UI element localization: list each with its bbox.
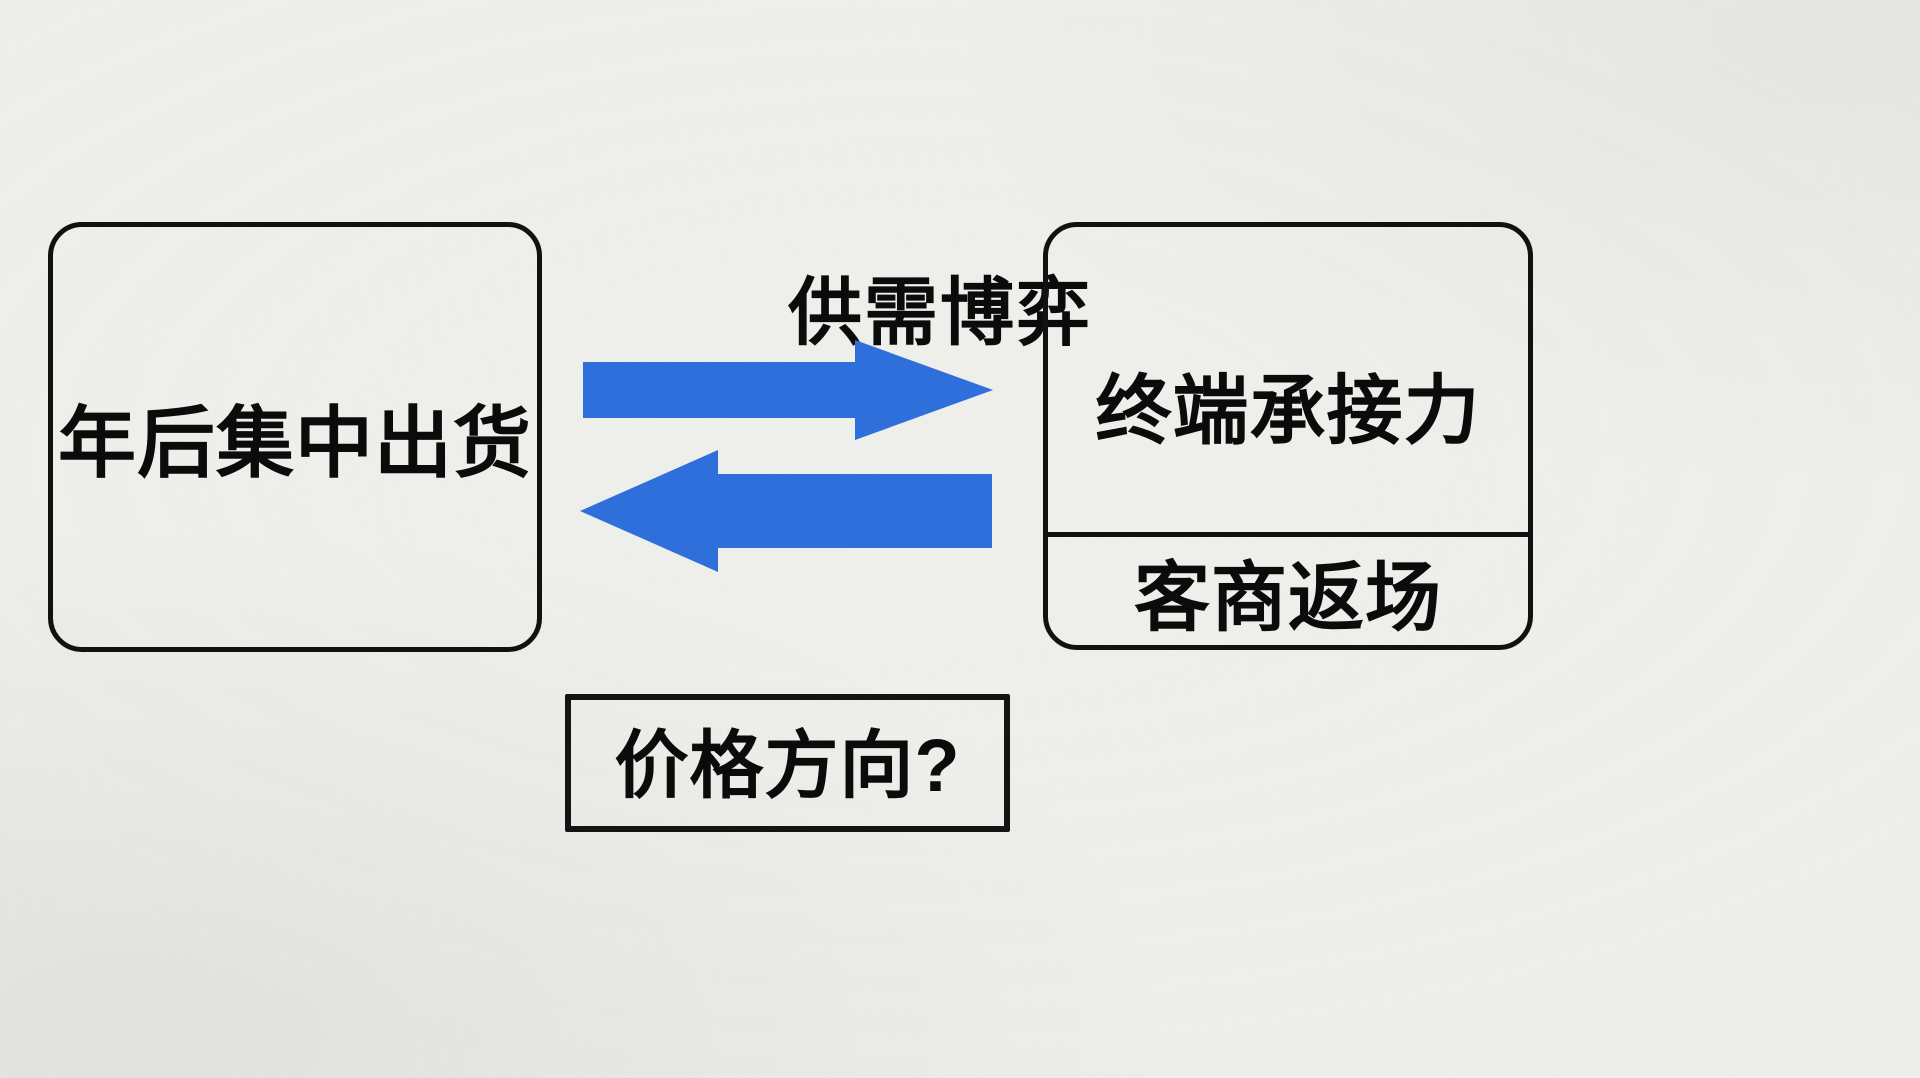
node-bottom-label: 价格方向? [614,729,960,803]
arrow-left-icon [580,450,992,572]
node-right-cell-bottom[interactable]: 客商返场 [1048,537,1528,645]
node-bottom-question[interactable]: 价格方向? [565,694,1010,832]
arrow-right-icon [583,340,993,440]
node-left-label: 年后集中出货 [58,404,532,482]
node-right-bottom-label: 客商返场 [1134,561,1442,637]
node-left-supply[interactable]: 年后集中出货 [48,222,542,652]
node-right-cell-top[interactable]: 终端承接力 [1048,227,1528,532]
diagram-canvas: 年后集中出货 供需博弈 终端承接力 客商返场 价格方向? [0,0,1920,1078]
node-right-demand[interactable]: 终端承接力 客商返场 [1043,222,1533,650]
node-right-top-label: 终端承接力 [1096,374,1481,450]
